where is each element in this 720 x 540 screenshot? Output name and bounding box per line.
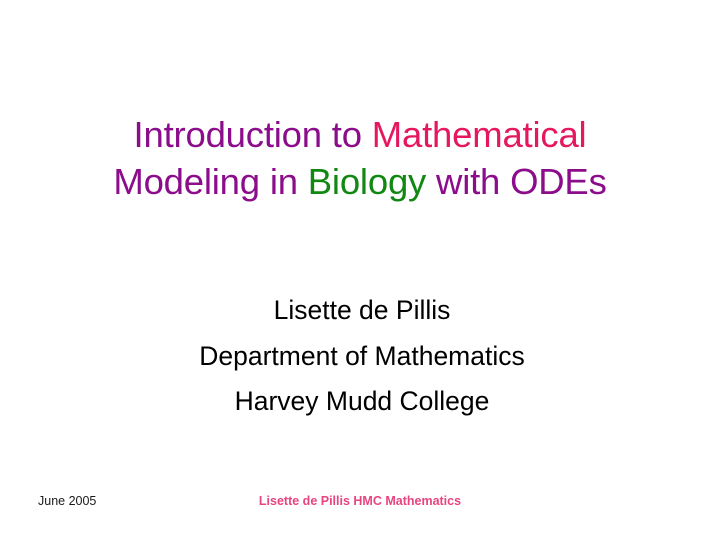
title-segment-biology: Biology: [308, 161, 426, 202]
title-segment-mathematical: Mathematical: [372, 114, 587, 155]
title-segment-introduction-to: Introduction to: [134, 114, 372, 155]
body-line-author: Lisette de Pillis: [60, 288, 664, 334]
title-segment-with-odes: with ODEs: [426, 161, 607, 202]
footer-date: June 2005: [38, 494, 96, 508]
body-line-department: Department of Mathematics: [60, 334, 664, 380]
title-line-1: Introduction to Mathematical: [60, 112, 660, 159]
presentation-slide: Introduction to Mathematical Modeling in…: [0, 0, 720, 540]
body-line-institution: Harvey Mudd College: [60, 379, 664, 425]
slide-title: Introduction to Mathematical Modeling in…: [60, 112, 660, 205]
title-line-2: Modeling in Biology with ODEs: [60, 159, 660, 206]
footer-credit: Lisette de Pillis HMC Mathematics: [250, 494, 470, 508]
title-segment-modeling-in: Modeling in: [113, 161, 307, 202]
slide-body: Lisette de Pillis Department of Mathemat…: [60, 288, 664, 425]
slide-footer: June 2005 Lisette de Pillis HMC Mathemat…: [0, 494, 720, 516]
